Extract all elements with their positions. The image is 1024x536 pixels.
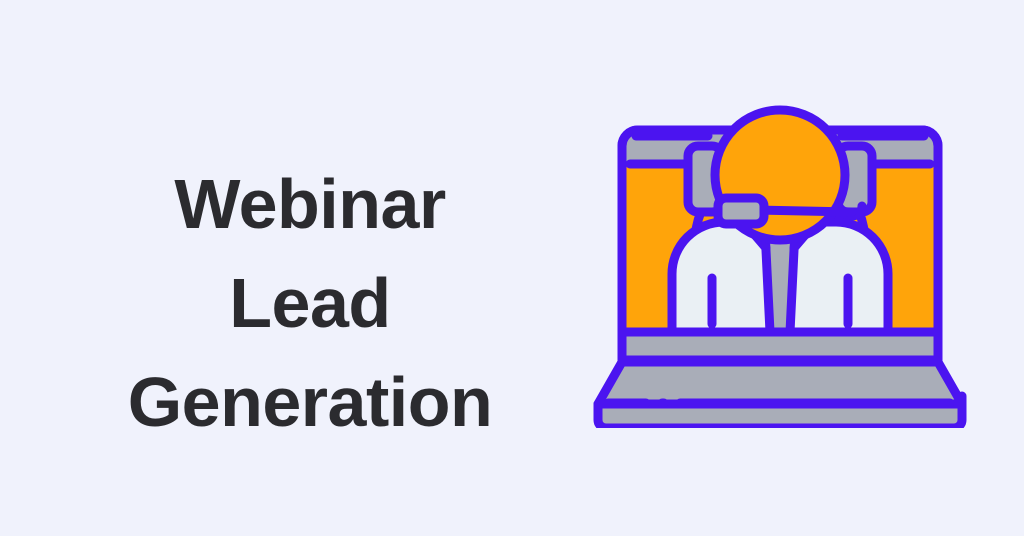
headset-mic-pad [718, 198, 764, 224]
laptop-keyboard-deck [598, 362, 962, 404]
laptop-webinar-svg [590, 88, 970, 428]
headset-mic-arm [758, 210, 852, 212]
banner-canvas: Webinar Lead Generation [0, 0, 1024, 536]
page-title: Webinar Lead Generation [60, 155, 560, 452]
laptop-base [598, 332, 962, 428]
laptop-webinar-illustration [590, 88, 970, 428]
headline-line-3: Generation [60, 353, 560, 452]
headline-line-2: Lead [60, 254, 560, 353]
headline-line-1: Webinar [60, 155, 560, 254]
laptop-hinge-bar [622, 332, 938, 360]
